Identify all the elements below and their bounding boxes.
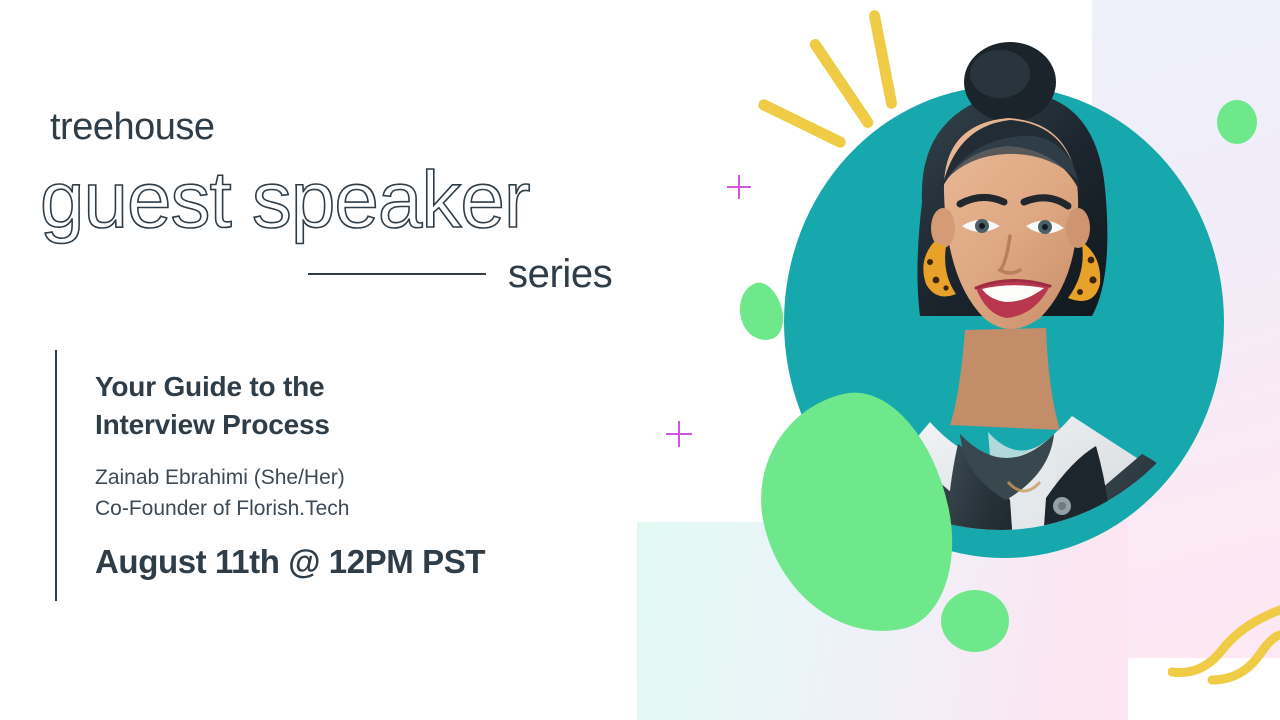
series-label: series xyxy=(508,254,612,294)
plus-mark-icon xyxy=(727,175,751,199)
speaker-name: Zainab Ebrahimi (She/Her) xyxy=(95,464,485,491)
series-divider xyxy=(308,273,486,275)
organic-blob-icon xyxy=(732,278,790,346)
slide-canvas: treehouse guest speaker series Your Guid… xyxy=(0,0,1280,720)
treehouse-wordmark: treehouse xyxy=(50,108,215,146)
series-row: series xyxy=(308,254,623,294)
plus-mark-icon xyxy=(666,421,692,447)
text-column: treehouse guest speaker series Your Guid… xyxy=(0,0,660,720)
talk-title: Your Guide to the Interview Process xyxy=(95,368,485,444)
organic-blob-icon xyxy=(941,590,1009,652)
speaker-role: Co-Founder of Florish.Tech xyxy=(95,495,485,522)
event-info-block: Your Guide to the Interview Process Zain… xyxy=(55,350,485,601)
yellow-swoosh-icon xyxy=(1168,580,1280,690)
event-datetime: August 11th @ 12PM PST xyxy=(95,544,485,580)
page-title: guest speaker xyxy=(40,160,530,240)
